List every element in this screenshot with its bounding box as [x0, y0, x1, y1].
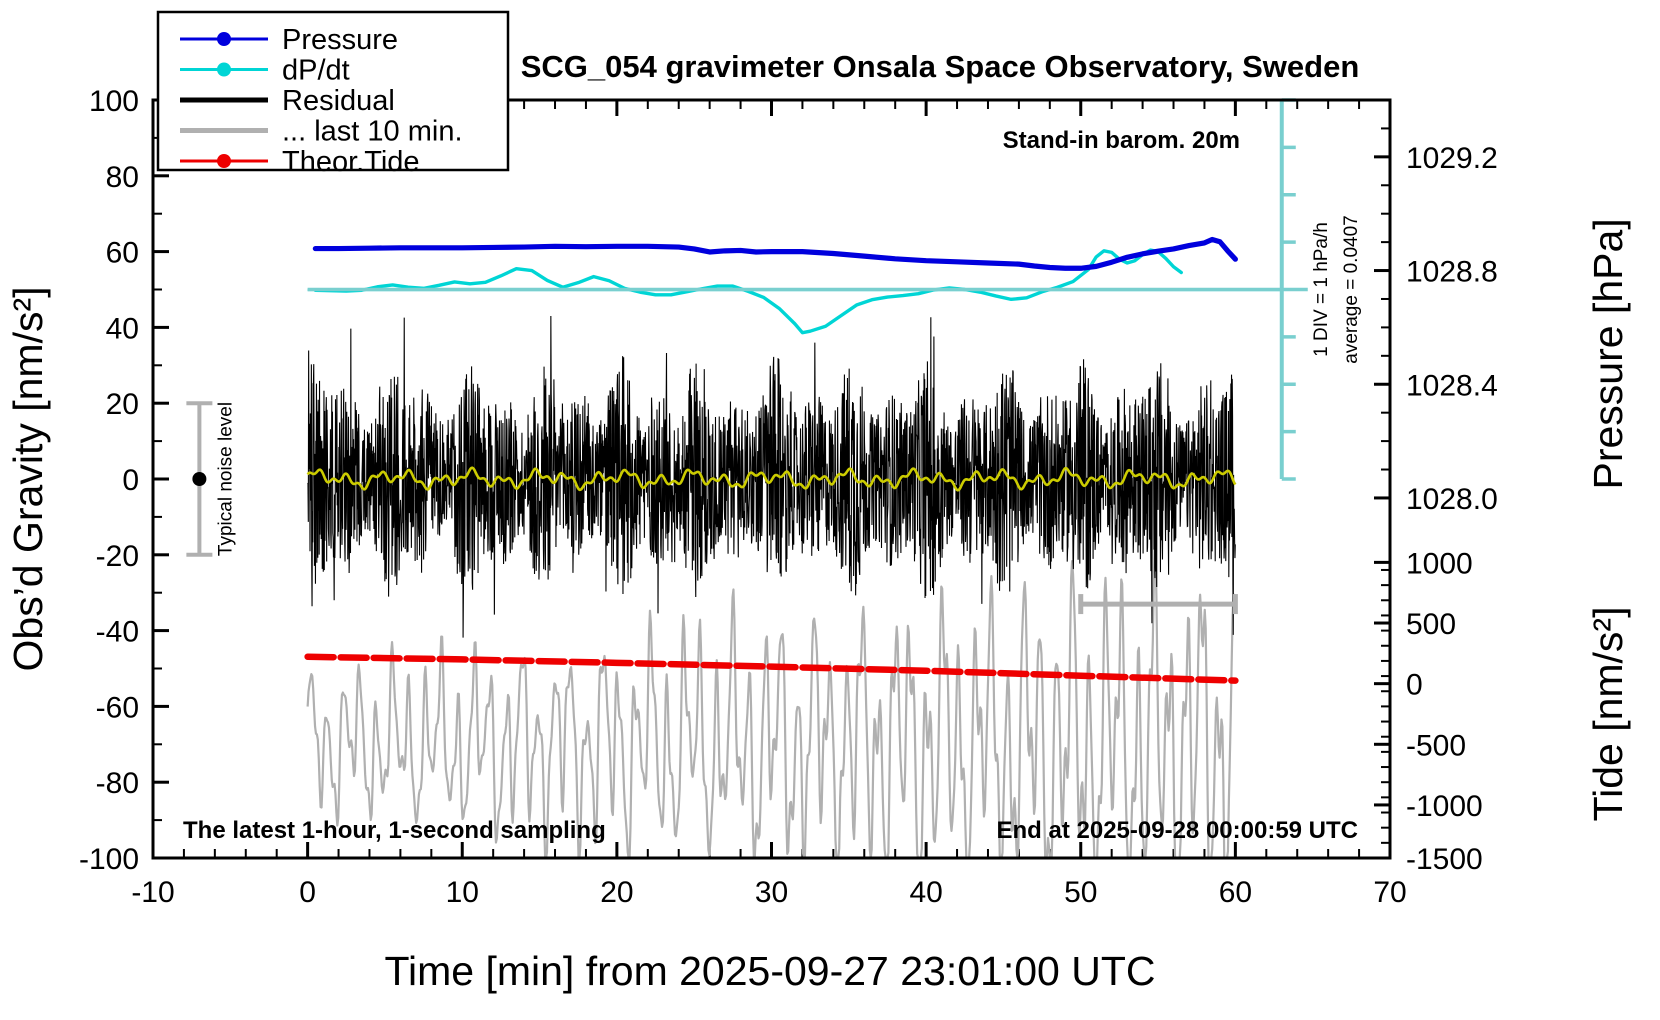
- y-tick-label: 0: [122, 464, 139, 497]
- y-axis-label-pressure: Pressure [hPa]: [1585, 218, 1631, 489]
- legend-label: dP/dt: [282, 55, 350, 87]
- legend-marker: [217, 154, 231, 168]
- pressure-tick-label: 1028.0: [1406, 483, 1498, 516]
- page-title: SCG_054 gravimeter Onsala Space Observat…: [521, 49, 1360, 84]
- x-tick-label: 30: [755, 876, 788, 909]
- annotation-barometer: Stand-in barom. 20m: [1003, 127, 1240, 154]
- y-tick-label: 60: [106, 237, 139, 270]
- annotation-div-scale: 1 DIV = 1 hPa/h: [1311, 222, 1332, 357]
- tide-tick-label: -1500: [1406, 843, 1483, 876]
- x-tick-label: 50: [1064, 876, 1097, 909]
- tide-tick-label: 0: [1406, 669, 1423, 702]
- annotation-end-time: End at 2025-09-28 00:00:59 UTC: [997, 817, 1359, 844]
- tide-tick-label: 1000: [1406, 547, 1473, 580]
- tide-tick-label: 500: [1406, 608, 1456, 641]
- x-tick-label: 0: [299, 876, 316, 909]
- x-tick-label: 10: [446, 876, 479, 909]
- legend-label: Residual: [282, 85, 395, 117]
- annotation-noise-level: Typical noise level: [215, 402, 236, 556]
- tide-tick-label: -1000: [1406, 790, 1483, 823]
- y-axis-label-left: Obs’d Gravity [nm/s²]: [5, 286, 51, 671]
- legend-label: Theor.Tide: [282, 146, 420, 178]
- legend-marker: [217, 63, 231, 77]
- y-tick-label: -100: [79, 843, 139, 876]
- annotation-average: average = 0.0407: [1341, 215, 1362, 363]
- x-tick-label: 20: [600, 876, 633, 909]
- y-tick-label: 40: [106, 312, 139, 345]
- legend: PressuredP/dtResidual... last 10 min.The…: [158, 12, 508, 178]
- pressure-tick-label: 1029.2: [1406, 142, 1498, 175]
- y-tick-label: 80: [106, 161, 139, 194]
- y-tick-label: 20: [106, 388, 139, 421]
- y-tick-label: -20: [96, 540, 139, 573]
- x-axis-label: Time [min] from 2025-09-27 23:01:00 UTC: [385, 948, 1156, 994]
- annotation-sampling: The latest 1-hour, 1-second sampling: [183, 817, 606, 844]
- gravimeter-plot: -10010203040506070 100806040200-20-40-60…: [0, 0, 1660, 1020]
- y-tick-label: -80: [96, 767, 139, 800]
- figure-root: -10010203040506070 100806040200-20-40-60…: [0, 0, 1660, 1020]
- x-tick-label: 60: [1219, 876, 1252, 909]
- legend-label: ... last 10 min.: [282, 116, 463, 148]
- x-tick-label: 40: [909, 876, 942, 909]
- y-axis-label-tide: Tide [nm/s²]: [1585, 607, 1631, 822]
- y-tick-label: -60: [96, 691, 139, 724]
- tide-tick-label: -500: [1406, 729, 1466, 762]
- x-tick-label: -10: [131, 876, 174, 909]
- pressure-tick-label: 1028.4: [1406, 369, 1498, 402]
- y-tick-label: -40: [96, 616, 139, 649]
- pressure-tick-label: 1028.8: [1406, 256, 1498, 289]
- legend-marker: [217, 32, 231, 46]
- y-tick-label: 100: [89, 85, 139, 118]
- x-tick-label: 70: [1373, 876, 1406, 909]
- legend-label: Pressure: [282, 24, 398, 56]
